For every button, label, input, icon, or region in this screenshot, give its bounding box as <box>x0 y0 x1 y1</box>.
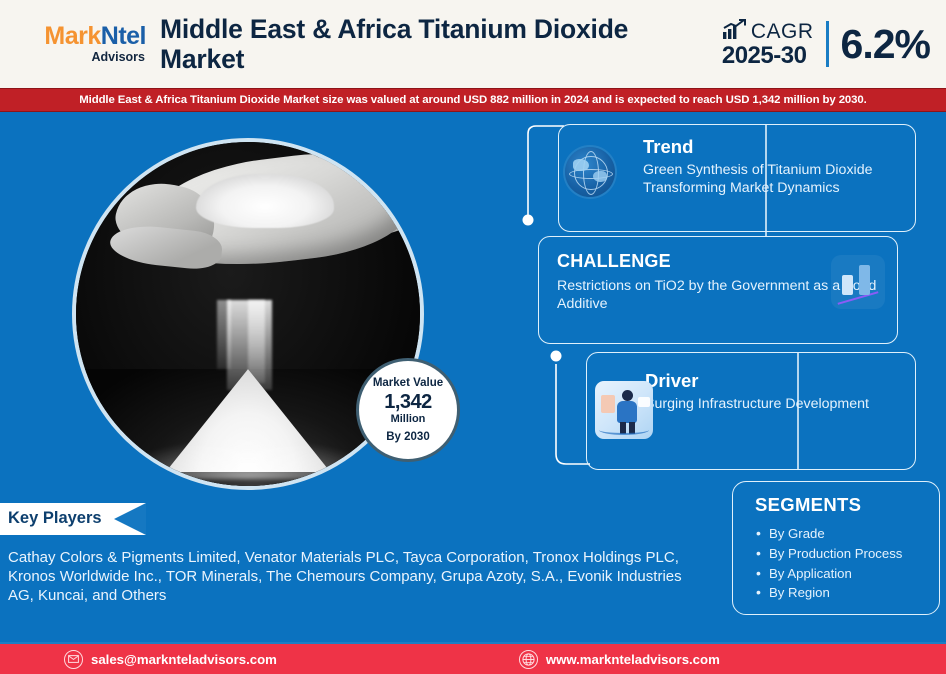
footer-email-text: sales@marknteladvisors.com <box>91 652 277 667</box>
cagr-block: CAGR 2025-30 6.2% <box>722 19 930 69</box>
cagr-label-row: CAGR <box>722 19 814 44</box>
list-item[interactable]: By Region <box>769 583 925 603</box>
logo-ntel-text: Ntel <box>101 22 146 50</box>
segments-list: By Grade By Production Process By Applic… <box>747 524 925 603</box>
header: MarkNtel Advisors Middle East & Africa T… <box>0 0 946 88</box>
page-title: Middle East & Africa Titanium Dioxide Ma… <box>160 14 722 74</box>
cagr-value: 6.2% <box>841 21 930 68</box>
market-value-badge: Market Value 1,342 Million By 2030 <box>356 358 460 462</box>
footer: sales@marknteladvisors.com www.markntela… <box>0 642 946 674</box>
card-driver-title: Driver <box>645 371 901 391</box>
globe-icon <box>565 147 615 197</box>
market-value-number: 1,342 <box>384 392 432 413</box>
infographic-page: MarkNtel Advisors Middle East & Africa T… <box>0 0 946 674</box>
list-item[interactable]: By Application <box>769 564 925 584</box>
insight-cards: Trend Green Synthesis of Titanium Dioxid… <box>520 124 920 470</box>
logo-wordmark: MarkNtel <box>44 24 146 49</box>
envelope-icon <box>64 650 83 669</box>
key-players-label: Key Players <box>8 509 102 528</box>
bar-chart-icon <box>831 255 885 309</box>
growth-chart-icon <box>722 19 747 44</box>
market-value-label: Market Value <box>373 377 443 389</box>
card-trend[interactable]: Trend Green Synthesis of Titanium Dioxid… <box>558 124 916 232</box>
card-trend-title: Trend <box>643 137 901 157</box>
footer-website[interactable]: www.marknteladvisors.com <box>519 650 720 669</box>
list-item[interactable]: By Production Process <box>769 544 925 564</box>
card-driver-body: Surging Infrastructure Development <box>645 395 901 413</box>
market-value-unit: Million <box>391 414 426 426</box>
ribbon-notch <box>114 503 146 535</box>
market-value-year: By 2030 <box>386 431 429 443</box>
globe-icon <box>519 650 538 669</box>
logo-mark-text: Mark <box>44 22 100 50</box>
segments-title: SEGMENTS <box>755 494 925 516</box>
marknetl-logo: MarkNtel Advisors <box>18 24 146 64</box>
card-driver[interactable]: Driver Surging Infrastructure Developmen… <box>586 352 916 470</box>
card-trend-body: Green Synthesis of Titanium Dioxide Tran… <box>643 161 901 197</box>
logo-subtitle: Advisors <box>92 51 146 64</box>
list-item[interactable]: By Grade <box>769 524 925 544</box>
segments-box: SEGMENTS By Grade By Production Process … <box>732 481 940 615</box>
card-challenge[interactable]: CHALLENGE Restrictions on TiO2 by the Go… <box>538 236 898 344</box>
key-players-list: Cathay Colors & Pigments Limited, Venato… <box>8 548 688 605</box>
cagr-label: CAGR <box>751 21 814 42</box>
cagr-left: CAGR 2025-30 <box>722 19 814 69</box>
footer-email[interactable]: sales@marknteladvisors.com <box>64 650 277 669</box>
person-infrastructure-icon <box>595 381 653 439</box>
cagr-years: 2025-30 <box>722 44 807 68</box>
market-size-banner: Middle East & Africa Titanium Dioxide Ma… <box>0 88 946 112</box>
footer-website-text: www.marknteladvisors.com <box>546 652 720 667</box>
cagr-divider <box>826 21 829 67</box>
